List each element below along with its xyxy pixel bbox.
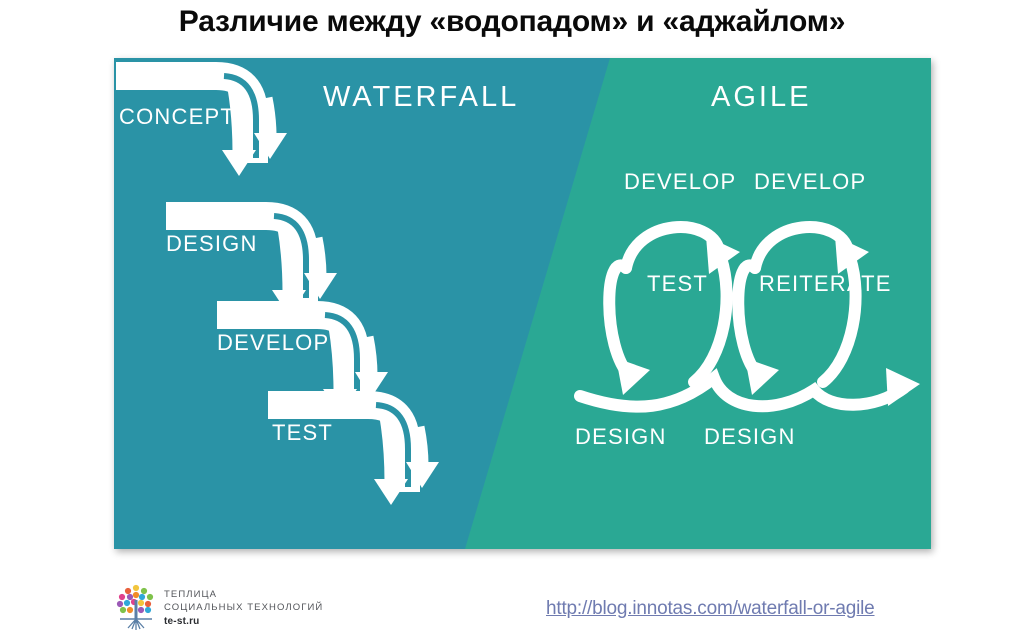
waterfall-step-label-test: TEST [272,420,333,445]
waterfall-step-label-concept: CONCEPT [119,104,235,129]
agile-label-develop-2: DEVELOP [754,169,866,194]
waterfall-vs-agile-diagram: WATERFALL AGILE CONCEPT DESIGN [114,58,931,549]
test-arrow-right-shaft [418,427,422,465]
agile-label-test: TEST [647,271,708,296]
colorful-tree-logo-icon [114,583,158,631]
logo-line-domain: te-st.ru [164,614,414,628]
agile-label-design-2: DESIGN [704,424,796,449]
diagram-canvas: WATERFALL AGILE CONCEPT DESIGN [114,58,931,549]
concept-arrow-right-shaft [266,98,270,136]
footer-logo: ТЕПЛИЦА СОЦИАЛЬНЫХ ТЕХНОЛОГИЙ te-st.ru [114,583,414,633]
agile-heading: AGILE [711,81,811,113]
waterfall-step-label-design: DESIGN [166,231,258,256]
logo-wordmark: ТЕПЛИЦА СОЦИАЛЬНЫХ ТЕХНОЛОГИЙ te-st.ru [164,588,414,628]
design-arrow-left-shaft [284,228,289,293]
page-title: Различие между «водопадом» и «аджайлом» [0,2,1024,42]
test-arrow-left-shaft [386,417,391,482]
waterfall-heading: WATERFALL [323,81,519,113]
develop-arrow-right-shaft [367,337,371,375]
agile-label-design-1: DESIGN [575,424,667,449]
logo-line-2: СОЦИАЛЬНЫХ ТЕХНОЛОГИЙ [164,601,414,614]
source-url-link[interactable]: http://blog.innotas.com/waterfall-or-agi… [546,598,875,620]
agile-label-reiterate: REITERATE [759,271,892,296]
logo-line-1: ТЕПЛИЦА [164,588,414,601]
agile-label-develop-1: DEVELOP [624,169,736,194]
waterfall-step-label-develop: DEVELOP [217,330,329,355]
design-arrow-right-shaft [316,238,320,276]
develop-arrow-left-shaft [335,327,340,392]
